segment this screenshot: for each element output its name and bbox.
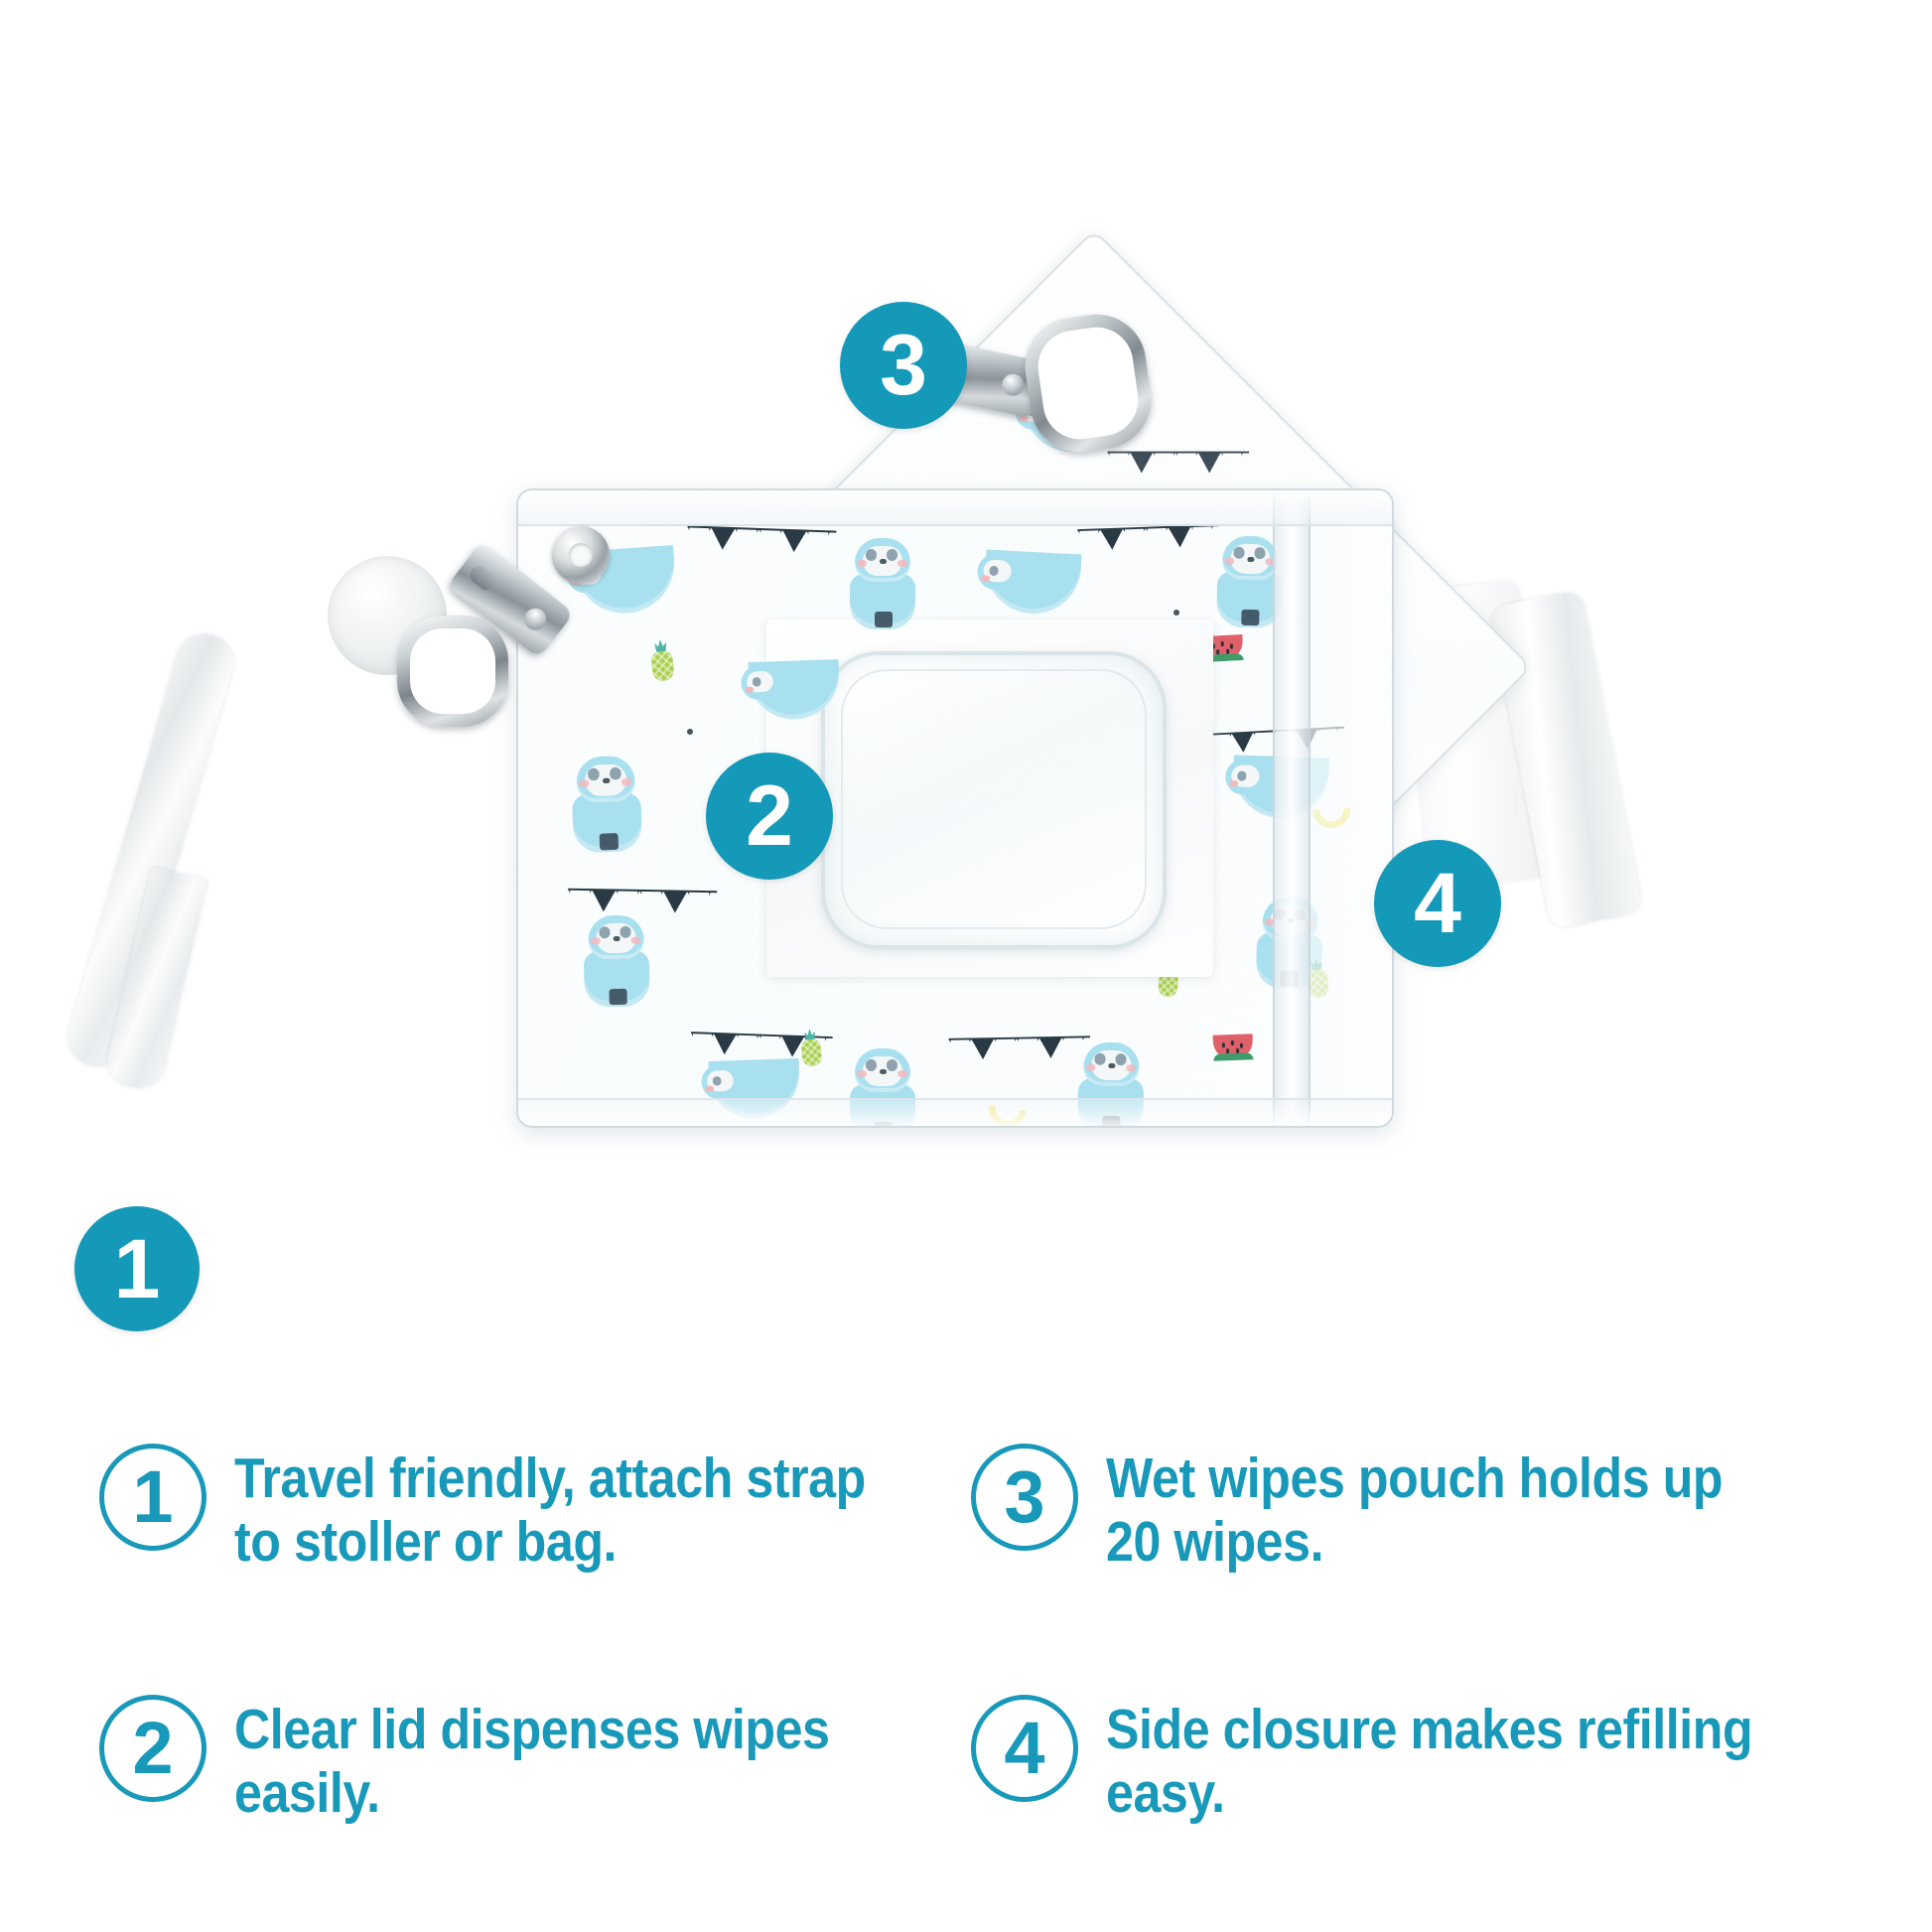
feature-text-1: Travel friendly, attach strap to stoller… [234,1444,883,1575]
feature-item-3: 3Wet wipes pouch holds up 20 wipes. [971,1430,1843,1681]
print-motif-bunting [687,523,837,558]
callout-badge-label: 1 [114,1227,161,1311]
feature-text-3: Wet wipes pouch holds up 20 wipes. [1106,1444,1754,1575]
feature-number-1: 1 [99,1444,207,1551]
lobster-clasp-left-gate [467,563,499,594]
print-motif-bunting [1077,522,1219,555]
clear-dispensing-lid [821,651,1167,949]
feature-text-4: Side closure makes refilling easy. [1106,1695,1754,1826]
side-closure-panel [1311,490,1392,1126]
print-motif-bunting [568,887,718,919]
print-motif-speck [1173,610,1179,616]
front-pouch-top-seal [518,490,1392,526]
feature-number-4: 4 [971,1695,1078,1802]
callout-badge-label: 2 [746,773,793,859]
print-motif-watermelon [1213,1034,1254,1060]
callout-badge-label: 4 [1414,861,1461,946]
print-motif-sloth [846,538,919,629]
side-closure-strip [1273,490,1311,1126]
split-ring-left [397,616,508,727]
clear-lid-inner-rim [841,669,1147,929]
lobster-clasp-top-pin [1000,372,1026,398]
callout-badge-4: 4 [1374,840,1501,967]
print-motif-bunting [949,1035,1091,1065]
print-motif-sloth-hanging [983,550,1081,617]
print-motif-bunting [690,1030,832,1062]
feature-text-2: Clear lid dispenses wipes easily. [234,1695,883,1826]
grommet-left [552,526,610,584]
print-motif-bunting [1108,450,1250,479]
front-pouch [516,488,1394,1128]
front-pouch-bottom-seal [518,1098,1392,1126]
print-motif-pineapple [645,638,679,685]
callout-badge-3: 3 [840,302,967,429]
feature-list: 1Travel friendly, attach strap to stolle… [0,1430,1932,1932]
print-motif-sloth [579,914,654,1007]
feature-number-3: 3 [971,1444,1078,1551]
feature-item-4: 4Side closure makes refilling easy. [971,1681,1843,1932]
callout-badge-2: 2 [706,753,833,880]
feature-item-1: 1Travel friendly, attach strap to stolle… [99,1430,971,1681]
lobster-clasp-left-pin [520,604,551,634]
print-motif-sloth [566,755,646,853]
callout-badge-1: 1 [74,1206,200,1331]
callout-badge-label: 3 [880,323,927,408]
feature-number-2: 2 [99,1695,207,1802]
print-motif-speck [687,729,693,735]
feature-item-2: 2Clear lid dispenses wipes easily. [99,1681,971,1932]
product-photo: 1234 [0,0,1932,1420]
print-motif-pineapple [796,1028,826,1069]
